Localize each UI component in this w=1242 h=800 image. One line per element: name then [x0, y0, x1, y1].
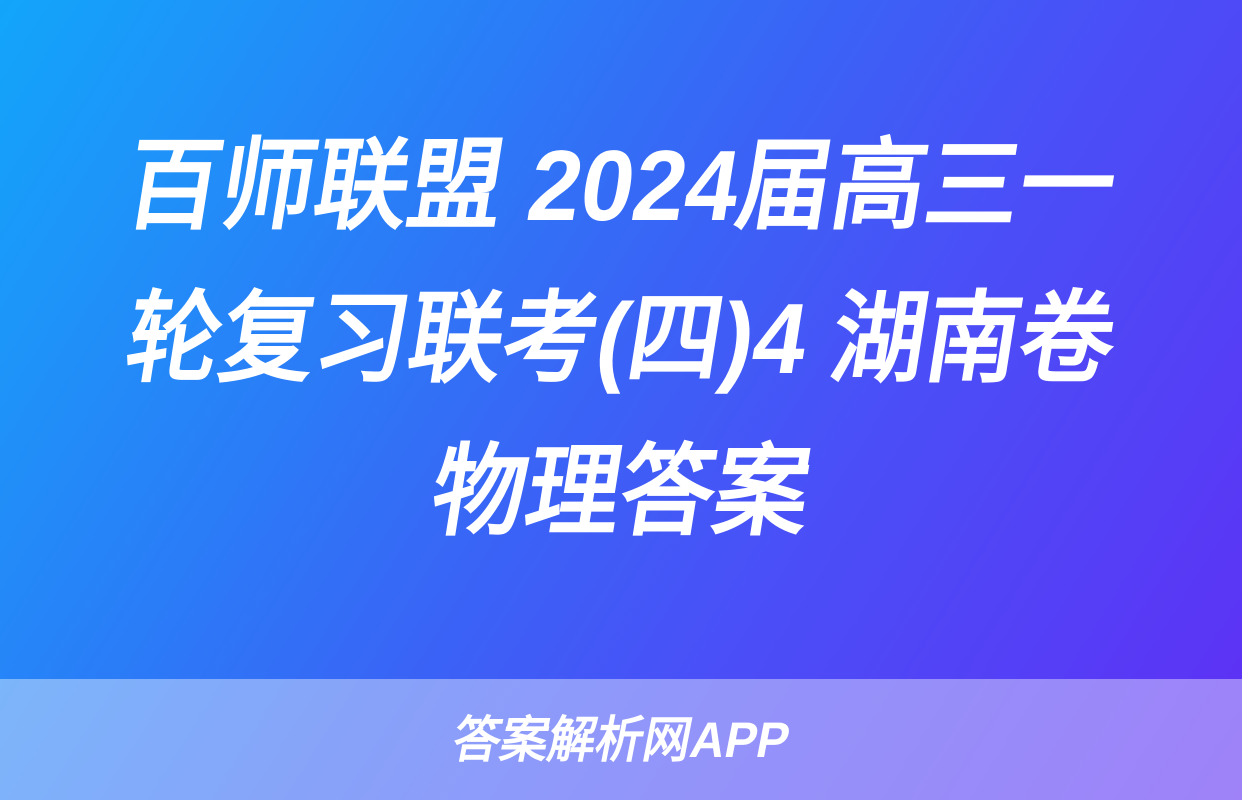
poster-title-line-1: 百师联盟 2024届高三一	[91, 110, 1151, 263]
app-brand-label: 答案解析网APP	[449, 715, 794, 765]
footer-band: 答案解析网APP	[0, 679, 1242, 800]
poster-title-line-2: 轮复习联考(四)4 湖南卷	[91, 263, 1151, 416]
poster-title-block: 百师联盟 2024届高三一 轮复习联考(四)4 湖南卷 物理答案	[0, 0, 1242, 679]
answer-poster-card: 百师联盟 2024届高三一 轮复习联考(四)4 湖南卷 物理答案 答案解析网AP…	[0, 0, 1242, 800]
poster-title-line-3: 物理答案	[91, 416, 1151, 569]
